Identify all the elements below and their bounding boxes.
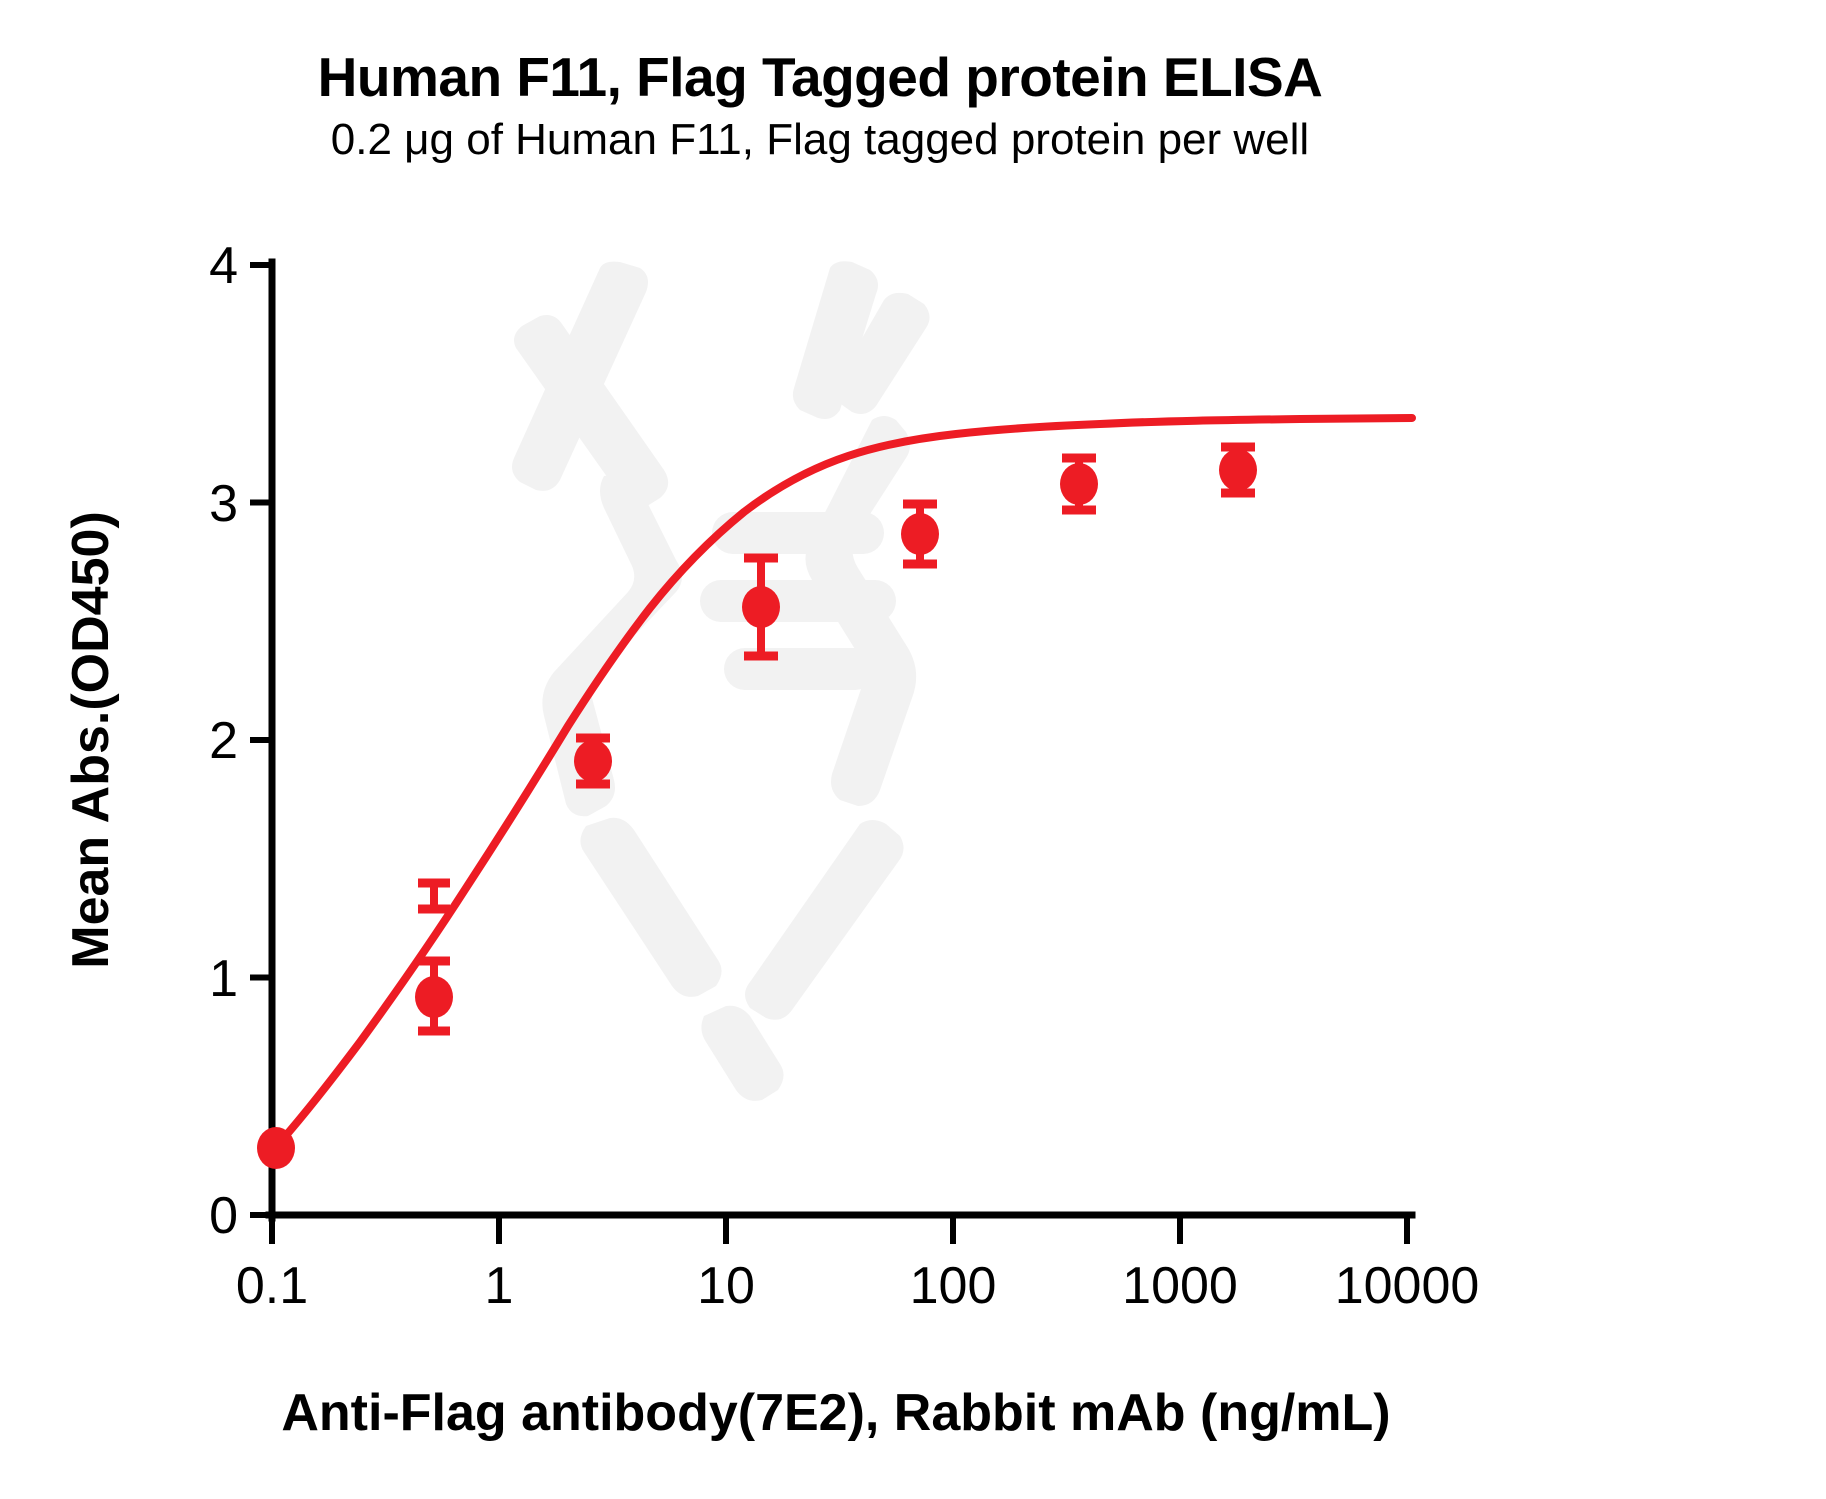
x-axis-ticks: [272, 1218, 1407, 1244]
y-tick-label: 0: [209, 1187, 238, 1245]
x-tick-label: 1000: [1122, 1257, 1238, 1315]
data-point: [1219, 446, 1257, 494]
y-axis-title: Mean Abs.(OD450): [62, 511, 120, 969]
y-axis-tick-labels: 0 1 2 3 4: [209, 237, 238, 1245]
x-axis-title: Anti-Flag antibody(7E2), Rabbit mAb (ng/…: [281, 1384, 1390, 1442]
chart-page: Human F11, Flag Tagged protein ELISA 0.2…: [0, 0, 1826, 1499]
data-point: [1060, 457, 1098, 511]
data-point: [901, 503, 939, 565]
y-tick-label: 4: [209, 237, 238, 295]
y-tick-label: 3: [209, 475, 238, 533]
plot-area: 0 1 2 3 4 0.1 1 10 100 1000: [0, 0, 1826, 1499]
y-tick-label: 2: [209, 712, 238, 770]
x-tick-label: 10000: [1335, 1257, 1480, 1315]
data-point: [415, 882, 453, 1032]
dna-helix-watermark: [512, 261, 930, 1101]
data-point: [257, 1127, 295, 1169]
y-tick-label: 1: [209, 950, 238, 1008]
x-tick-label: 100: [910, 1257, 997, 1315]
x-tick-label: 0.1: [236, 1257, 308, 1315]
x-tick-label: 10: [697, 1257, 755, 1315]
data-point: [742, 557, 780, 657]
x-axis-tick-labels: 0.1 1 10 100 1000 10000: [236, 1257, 1479, 1315]
x-tick-label: 1: [485, 1257, 514, 1315]
